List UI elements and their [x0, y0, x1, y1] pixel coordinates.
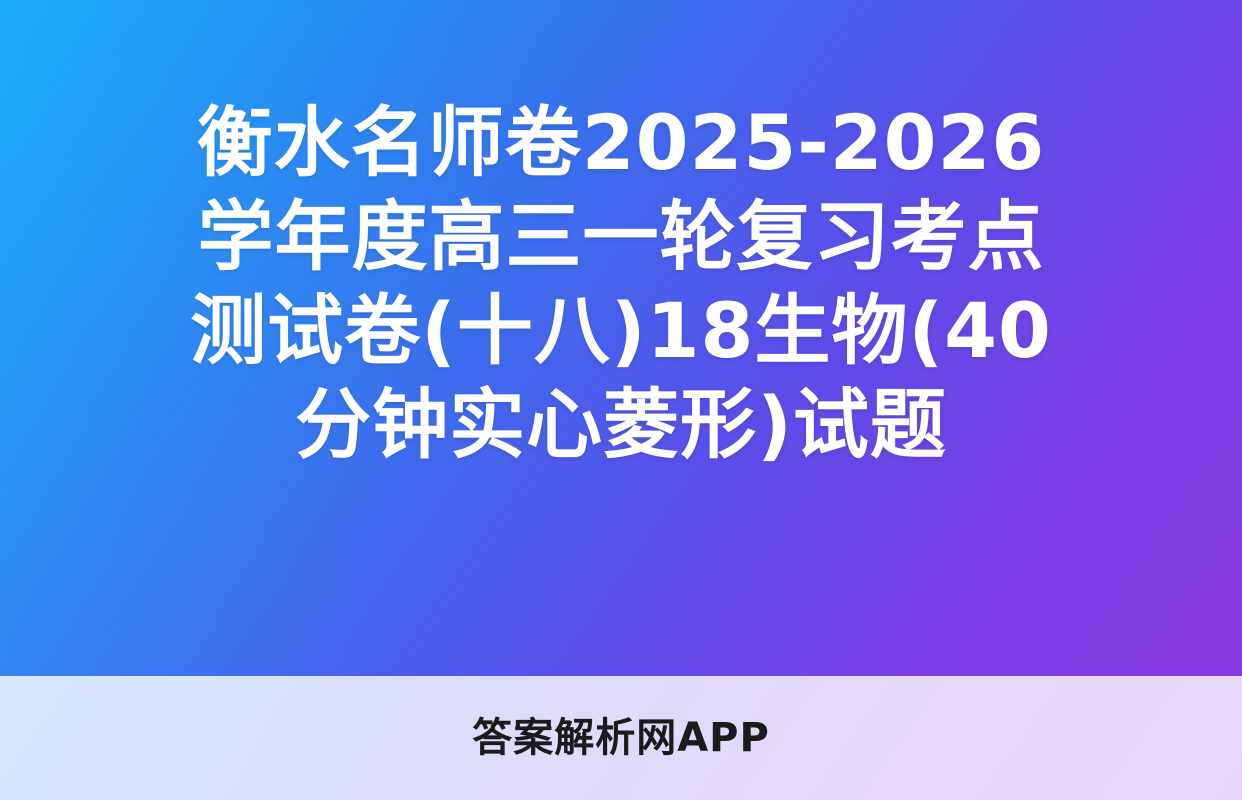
title-line-2: 学年度高三一轮复习考点	[40, 190, 1202, 284]
poster-title: 衡水名师卷2025-2026 学年度高三一轮复习考点 测试卷(十八)18生物(4…	[0, 96, 1242, 472]
poster-banner: 衡水名师卷2025-2026 学年度高三一轮复习考点 测试卷(十八)18生物(4…	[0, 0, 1242, 800]
app-name-label: 答案解析网APP	[472, 718, 770, 758]
title-line-4: 分钟实心菱形)试题	[40, 378, 1202, 472]
title-line-3: 测试卷(十八)18生物(40	[40, 284, 1202, 378]
footer-bar: 答案解析网APP	[0, 676, 1242, 800]
title-line-1: 衡水名师卷2025-2026	[40, 96, 1202, 190]
